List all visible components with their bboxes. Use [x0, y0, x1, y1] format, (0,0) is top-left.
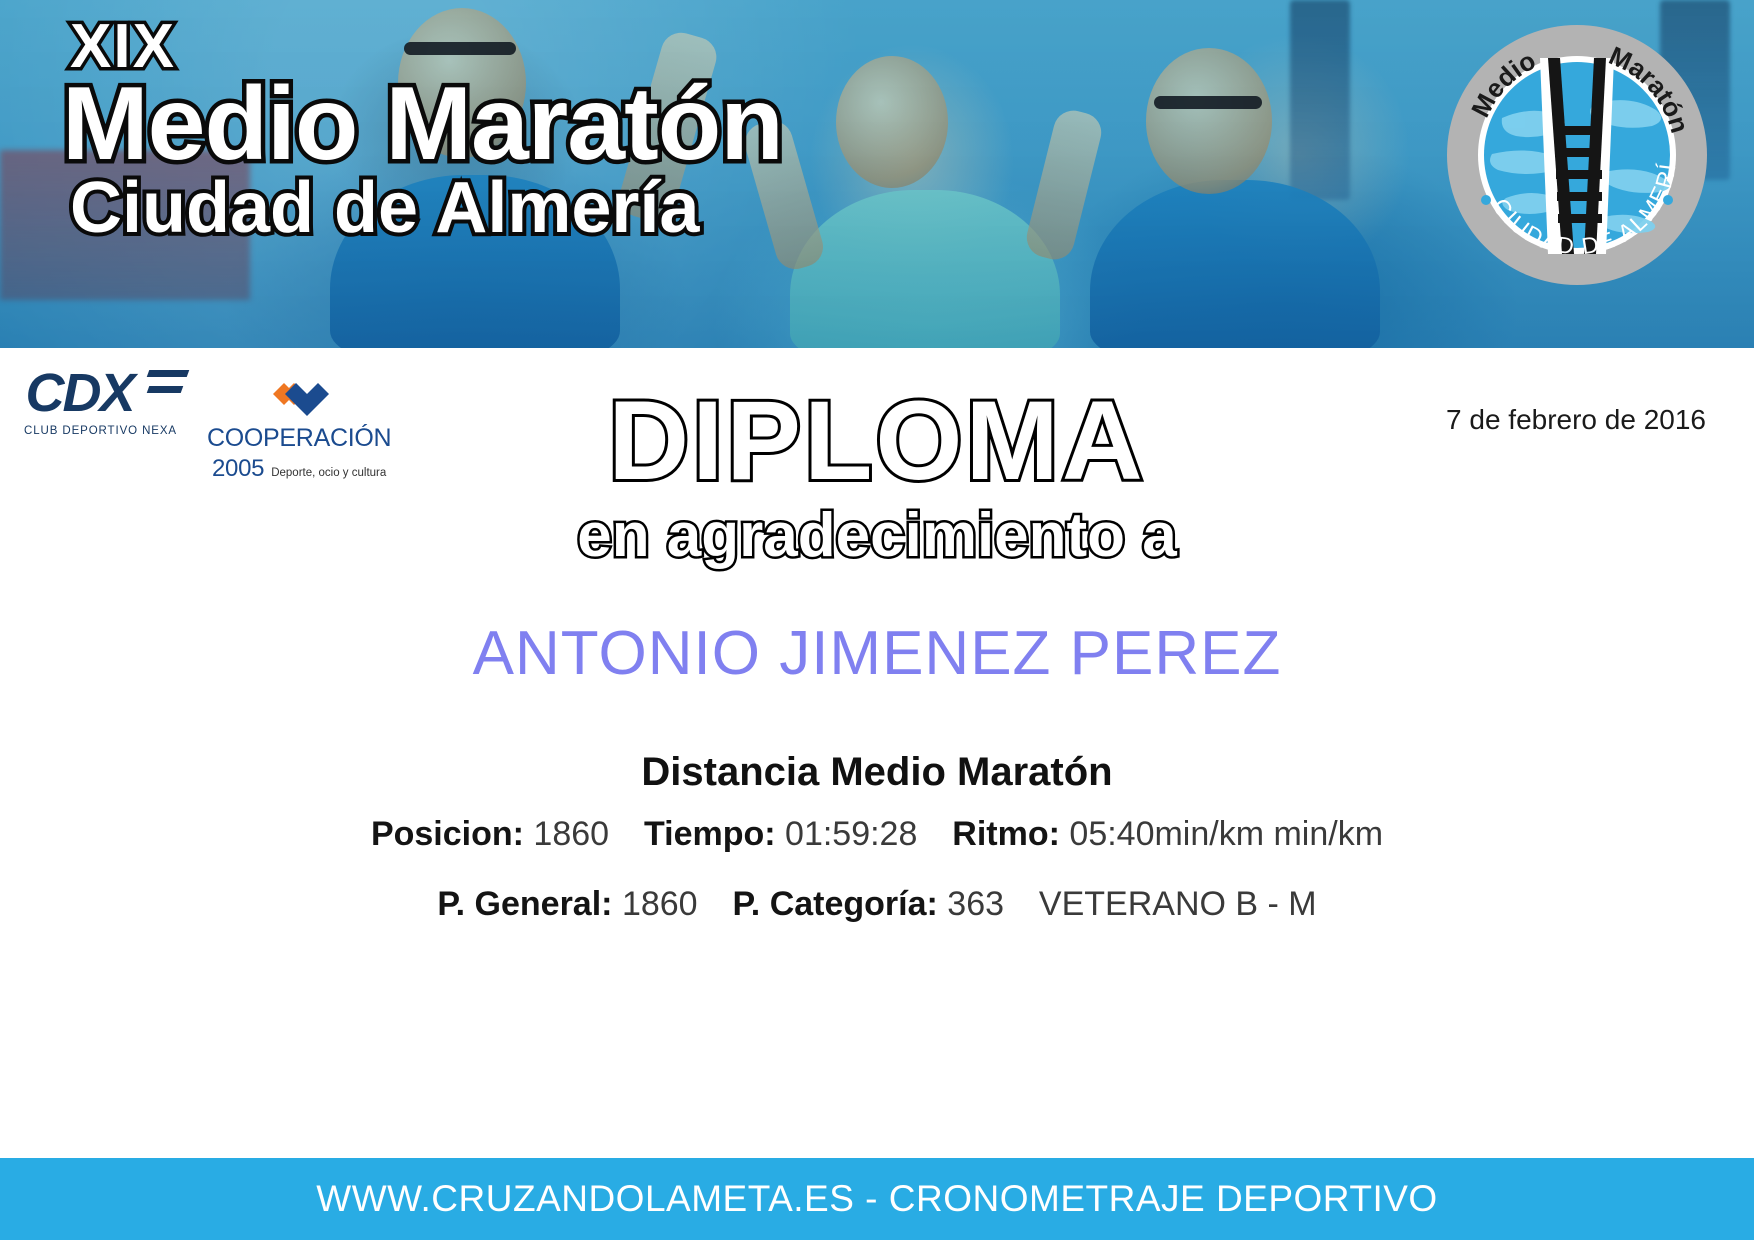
athlete-name: ANTONIO JIMENEZ PEREZ — [0, 618, 1754, 689]
event-title-block: XIX Medio Maratón Ciudad de Almería — [62, 16, 783, 244]
cooperacion-tagline: Deporte, ocio y cultura — [271, 467, 386, 479]
cdx-dash-lower — [146, 386, 183, 393]
p-general-value: 1860 — [622, 885, 698, 923]
cooperacion-name: COOPERACIÓN — [207, 424, 391, 453]
event-subtitle: Ciudad de Almería — [70, 172, 783, 244]
posicion-value: 1860 — [533, 815, 609, 853]
emblem-svg: Medio Maratón CIUDAD DE ALMERÍA — [1444, 22, 1710, 288]
cooperacion-year: 2005 — [212, 455, 264, 483]
diploma-subtitle: en agradecimiento a — [0, 502, 1754, 570]
event-title: Medio Maratón — [62, 72, 783, 176]
cooperacion-subrow: 2005 Deporte, ocio y cultura — [212, 455, 386, 483]
emblem-dot-right — [1663, 195, 1673, 205]
cooperacion-diamond-icon — [253, 368, 345, 422]
emblem-dot-left — [1481, 195, 1491, 205]
sponsor-logos: CDX CLUB DEPORTIVO NEXA COOPERACIÓN 2005… — [24, 364, 391, 483]
footer-bar: WWW.CRUZANDOLAMETA.ES - CRONOMETRAJE DEP… — [0, 1158, 1754, 1240]
ritmo-label: Ritmo: — [952, 815, 1060, 853]
cooperacion-mark — [253, 368, 345, 422]
diploma-page: XIX Medio Maratón Ciudad de Almería — [0, 0, 1754, 1240]
event-emblem-logo: Medio Maratón CIUDAD DE ALMERÍA — [1444, 22, 1710, 288]
cdx-wordmark: CDX — [26, 364, 176, 422]
ritmo-value: 05:40min/km min/km — [1069, 815, 1383, 853]
posicion-label: Posicion: — [371, 815, 524, 853]
categoria-name: VETERANO B - M — [1039, 885, 1317, 923]
tiempo-label: Tiempo: — [644, 815, 776, 853]
race-distance: Distancia Medio Maratón — [0, 750, 1754, 795]
cdx-tagline: CLUB DEPORTIVO NEXA — [24, 425, 177, 437]
results-row-primary: Posicion: 1860 Tiempo: 01:59:28 Ritmo: 0… — [0, 815, 1754, 854]
p-categoria-value: 363 — [947, 885, 1004, 923]
cooperacion-text-row: COOPERACIÓN — [207, 424, 391, 453]
cdx-logo-text: CDX — [26, 363, 134, 423]
p-general-label: P. General: — [437, 885, 612, 923]
p-categoria-label: P. Categoría: — [733, 885, 938, 923]
tiempo-value: 01:59:28 — [785, 815, 917, 853]
header-banner: XIX Medio Maratón Ciudad de Almería — [0, 0, 1754, 348]
cdx-dash-upper — [146, 370, 189, 377]
footer-divider — [0, 1148, 1754, 1158]
cooperacion-logo: COOPERACIÓN 2005 Deporte, ocio y cultura — [207, 368, 391, 483]
diploma-date: 7 de febrero de 2016 — [1446, 404, 1706, 436]
cdx-logo: CDX CLUB DEPORTIVO NEXA — [24, 364, 177, 437]
footer-text: WWW.CRUZANDOLAMETA.ES - CRONOMETRAJE DEP… — [316, 1178, 1437, 1220]
results-row-secondary: P. General: 1860 P. Categoría: 363 VETER… — [0, 885, 1754, 924]
